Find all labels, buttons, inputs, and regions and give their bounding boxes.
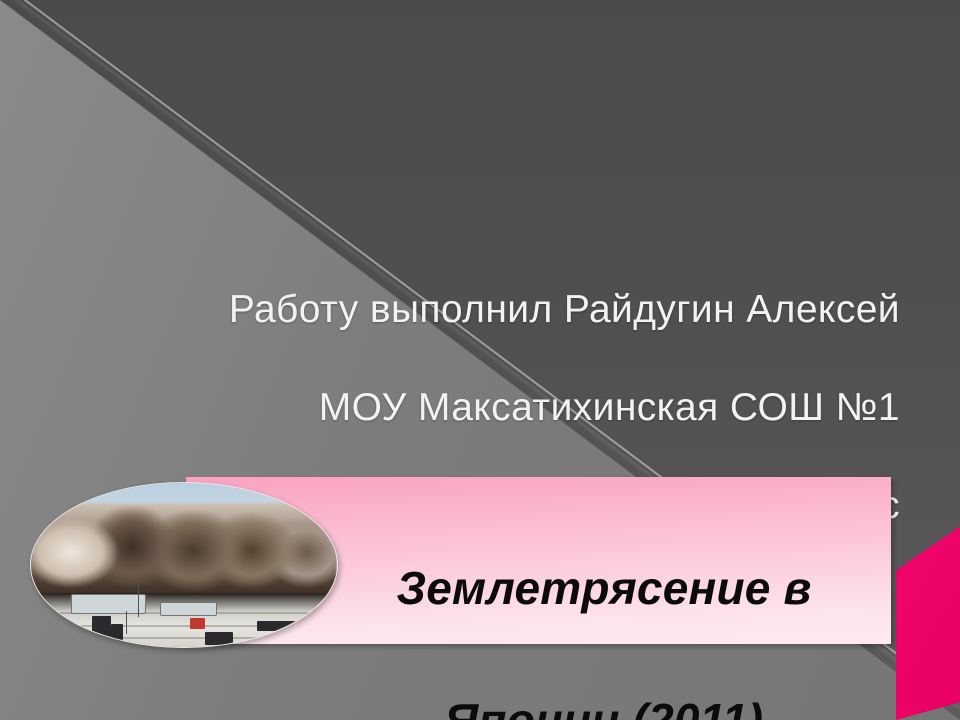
title-line-1: Землетрясение в bbox=[330, 555, 878, 621]
photo-debris bbox=[111, 624, 123, 640]
photo-road-strip bbox=[31, 637, 337, 639]
subtitle-line-school: МОУ Максатихинская СОШ №1 bbox=[120, 383, 900, 432]
subtitle-line-author: Работу выполнил Райдугин Алексей bbox=[120, 285, 900, 334]
photo-red-marker bbox=[190, 618, 205, 629]
photo-debris bbox=[205, 632, 233, 645]
photo-vehicle bbox=[71, 594, 146, 614]
photo-debris bbox=[257, 621, 297, 631]
tsunami-photo-oval bbox=[30, 482, 338, 648]
presentation-slide: Работу выполнил Райдугин Алексей МОУ Мак… bbox=[0, 0, 960, 720]
slide-title: Землетрясение в Японии (2011) bbox=[330, 489, 878, 720]
photo-wave bbox=[31, 503, 337, 598]
photo-debris bbox=[92, 616, 110, 637]
photo-vehicle bbox=[160, 602, 217, 615]
photo-pole bbox=[138, 581, 139, 617]
photo-pole bbox=[126, 611, 127, 634]
title-line-2: Японии (2011) bbox=[330, 687, 878, 720]
